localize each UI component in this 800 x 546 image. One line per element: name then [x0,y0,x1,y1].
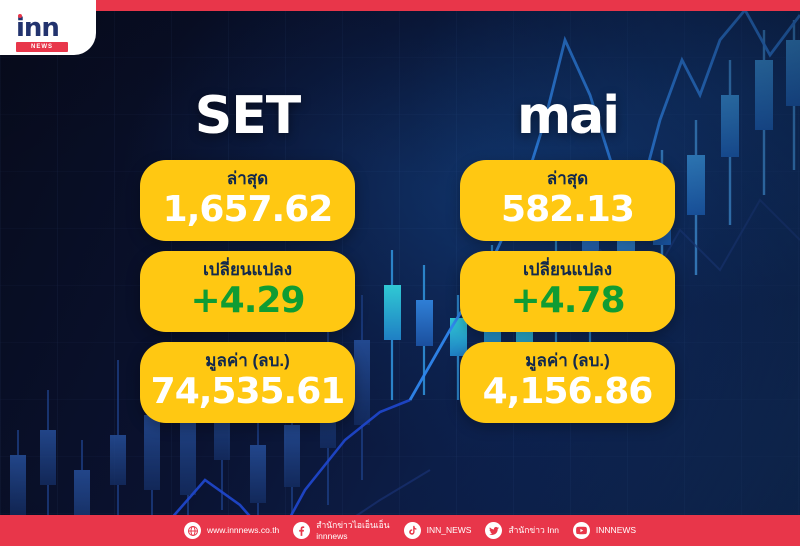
tiktok-icon [404,522,421,539]
card-label: มูลค่า (ลบ.) [466,351,669,371]
footer-item-youtube[interactable]: INNNEWS [573,522,636,539]
card-set-change: เปลี่ยนแปลง +4.29 [140,251,355,332]
index-column-set: SET ล่าสุด 1,657.62 เปลี่ยนแปลง +4.29 มู… [140,88,355,423]
facebook-icon [293,522,310,539]
footer-item-website[interactable]: www.innnews.co.th [184,522,279,539]
footer-item-facebook[interactable]: สำนักข่าวไอเอ็นเอ็น innnews [293,520,389,540]
footer-label: สำนักข่าวไอเอ็นเอ็น innnews [316,520,389,540]
footer-item-twitter[interactable]: สำนักข่าว Inn [485,522,558,539]
twitter-icon [485,522,502,539]
stock-summary-graphic: inn NEWS SET ล่าสุด 1,657.62 เปลี่ยนแปลง… [0,0,800,546]
index-title-set: SET [140,88,355,144]
inn-news-logo[interactable]: inn NEWS [0,0,96,55]
index-column-mai: mai ล่าสุด 582.13 เปลี่ยนแปลง +4.78 มูลค… [460,88,675,423]
card-value: +4.78 [466,281,669,321]
globe-icon [184,522,201,539]
card-value: 4,156.86 [466,372,669,412]
logo-dot-icon [18,14,22,18]
card-mai-latest: ล่าสุด 582.13 [460,160,675,241]
card-mai-turnover: มูลค่า (ลบ.) 4,156.86 [460,342,675,423]
footer-social-bar: www.innnews.co.th สำนักข่าวไอเอ็นเอ็น in… [0,515,800,546]
footer-item-tiktok[interactable]: INN_NEWS [404,522,472,539]
footer-label-line1: สำนักข่าวไอเอ็นเอ็น [316,520,389,530]
footer-label: www.innnews.co.th [207,525,279,535]
top-accent-bar [0,0,800,11]
card-value: 582.13 [466,190,669,230]
card-label: มูลค่า (ลบ.) [146,351,349,371]
card-label: เปลี่ยนแปลง [466,260,669,280]
card-mai-change: เปลี่ยนแปลง +4.78 [460,251,675,332]
card-value: +4.29 [146,281,349,321]
card-value: 74,535.61 [146,372,349,412]
card-label: เปลี่ยนแปลง [146,260,349,280]
footer-label-line2: innnews [316,531,389,541]
card-label: ล่าสุด [466,169,669,189]
card-value: 1,657.62 [146,190,349,230]
footer-label: INN_NEWS [427,525,472,535]
background-vignette [0,0,800,546]
card-label: ล่าสุด [146,169,349,189]
footer-label: INNNEWS [596,525,636,535]
card-set-turnover: มูลค่า (ลบ.) 74,535.61 [140,342,355,423]
footer-label: สำนักข่าว Inn [508,525,558,535]
index-title-mai: mai [460,88,675,144]
card-set-latest: ล่าสุด 1,657.62 [140,160,355,241]
youtube-icon [573,522,590,539]
logo-news-badge: NEWS [16,42,68,52]
logo-wordmark: inn [16,16,82,41]
